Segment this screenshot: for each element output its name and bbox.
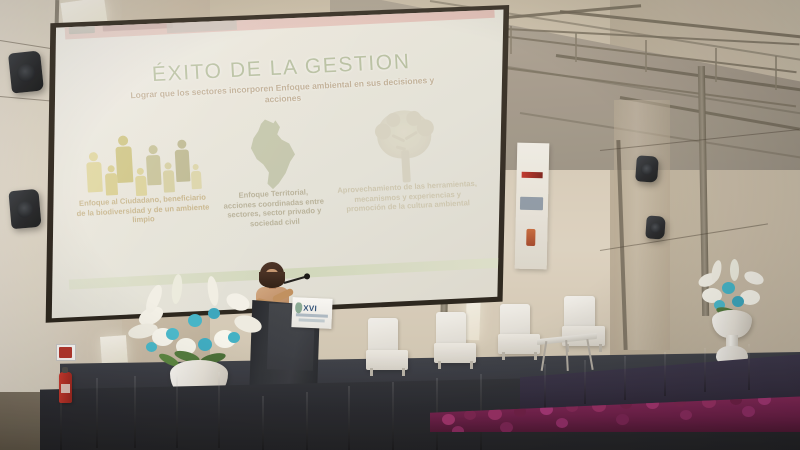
flower-arrangement-right <box>686 258 782 370</box>
side-table <box>537 336 597 372</box>
truss-post <box>645 40 647 72</box>
event-sign-line-2 <box>299 318 325 322</box>
flower-white <box>730 259 739 281</box>
banner-accent-bar <box>522 172 543 178</box>
slide-column-3-caption: Aprovechamiento de las herramientas, mec… <box>334 179 481 215</box>
people-group-icon <box>68 120 212 199</box>
wall-speaker <box>8 50 44 93</box>
event-sign-line-1 <box>296 313 328 317</box>
flower-blue <box>198 338 212 351</box>
truss-post <box>575 32 577 62</box>
skirt-pleat <box>218 372 220 448</box>
flower-blue <box>732 296 744 307</box>
flower-blue <box>208 308 220 319</box>
truss-post <box>715 48 717 82</box>
banner-photo-icon <box>526 229 535 246</box>
slide-column-2: Enfoque Territorial, acciones coordinada… <box>214 114 330 230</box>
flower-white <box>206 275 220 306</box>
event-sign: XVI <box>291 297 332 329</box>
fire-extinguisher-sign-icon <box>56 344 76 361</box>
peru-map-icon <box>214 114 328 191</box>
flower-blue <box>166 328 179 340</box>
slide-column-1: Enfoque al Ciudadano, beneficiario de la… <box>68 120 213 228</box>
flower-blue <box>146 342 157 352</box>
flower-white <box>170 274 183 305</box>
event-banner <box>515 143 550 270</box>
skirt-pleat <box>584 360 586 404</box>
skirt-pleat <box>704 348 706 392</box>
skirt-pleat <box>96 378 98 448</box>
flower-white <box>224 290 252 314</box>
slide-header-band <box>64 0 495 39</box>
skirt-pleat <box>348 386 350 450</box>
flower-blue <box>188 314 202 327</box>
wall-speaker <box>635 155 659 182</box>
wall-speaker <box>8 189 41 229</box>
wall-speaker <box>645 215 666 239</box>
truss-post <box>775 56 777 90</box>
banner-logo-icon <box>520 197 543 210</box>
vase-bowl <box>712 310 752 338</box>
skirt-pleat <box>306 392 308 450</box>
skirt-pleat <box>262 396 264 450</box>
slide-column-2-caption: Enfoque Territorial, acciones coordinada… <box>218 186 330 230</box>
skirt-pleat <box>134 376 136 448</box>
flower-blue <box>722 282 735 294</box>
skirt-pleat <box>748 344 750 390</box>
event-sign-number: XVI <box>303 304 317 314</box>
flower-white <box>710 259 723 282</box>
skirt-pleat <box>392 382 394 450</box>
skirt-pleat <box>624 356 626 400</box>
tree-icon <box>330 107 480 186</box>
photo-scene: ÉXITO DE LA GESTION Lograr que los secto… <box>0 0 800 450</box>
fire-extinguisher-icon <box>59 372 72 403</box>
event-sign-emblem-icon <box>295 302 302 313</box>
slide-column-3: Aprovechamiento de las herramientas, mec… <box>330 107 481 215</box>
skirt-pleat <box>544 364 546 408</box>
flower-blue <box>228 332 240 343</box>
skirt-pleat <box>664 352 666 396</box>
microphone-icon <box>284 275 308 284</box>
flower-white <box>743 269 766 287</box>
skirt-pleat <box>176 374 178 448</box>
